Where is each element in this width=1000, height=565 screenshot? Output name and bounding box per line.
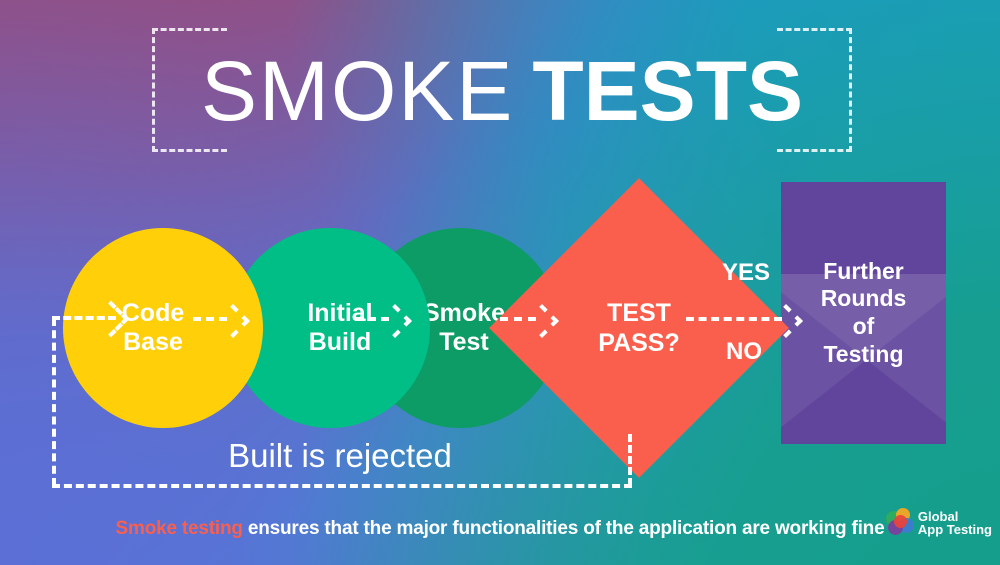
caption-highlight: Smoke testing: [116, 518, 243, 539]
logo-mark-icon: [886, 508, 916, 538]
reject-loop-segment-up: [52, 318, 56, 486]
title-block: SMOKETESTS: [152, 28, 852, 160]
title-word-tests: TESTS: [532, 44, 803, 138]
arrow-initial-build-to-smoke-test: [355, 308, 411, 330]
caption-rest: ensures that the major functionalities o…: [243, 518, 885, 539]
reject-loop-segment-bottom: [52, 484, 632, 488]
reject-loop-label: Built is rejected: [140, 437, 540, 475]
caption-bar: Smoke testing ensures that the major fun…: [0, 512, 1000, 546]
logo-line-2: App Testing: [918, 523, 992, 536]
page-title: SMOKETESTS: [152, 42, 852, 140]
logo-wordmark: Global App Testing: [918, 510, 992, 537]
infographic-canvas: SMOKETESTS CodeBase InitialBuild SmokeTe…: [0, 0, 1000, 565]
branch-label-yes: YES: [722, 259, 770, 287]
logo-line-1: Global: [918, 510, 992, 523]
reject-loop-segment-down: [628, 434, 632, 486]
arrow-test-pass-to-further-rounds: [686, 308, 804, 330]
caption-text: Smoke testing ensures that the major fun…: [116, 518, 885, 540]
arrow-smoke-test-to-test-pass: [500, 308, 558, 330]
global-app-testing-logo[interactable]: Global App Testing: [886, 508, 992, 538]
title-word-smoke: SMOKE: [201, 44, 514, 138]
flow-node-further-rounds[interactable]: FurtherRoundsofTesting: [781, 182, 946, 444]
flow-node-further-rounds-label: FurtherRoundsofTesting: [781, 182, 946, 444]
branch-label-no: NO: [726, 338, 762, 366]
arrow-code-base-to-initial-build: [193, 308, 249, 330]
flow-node-code-base-label: CodeBase: [122, 299, 185, 357]
